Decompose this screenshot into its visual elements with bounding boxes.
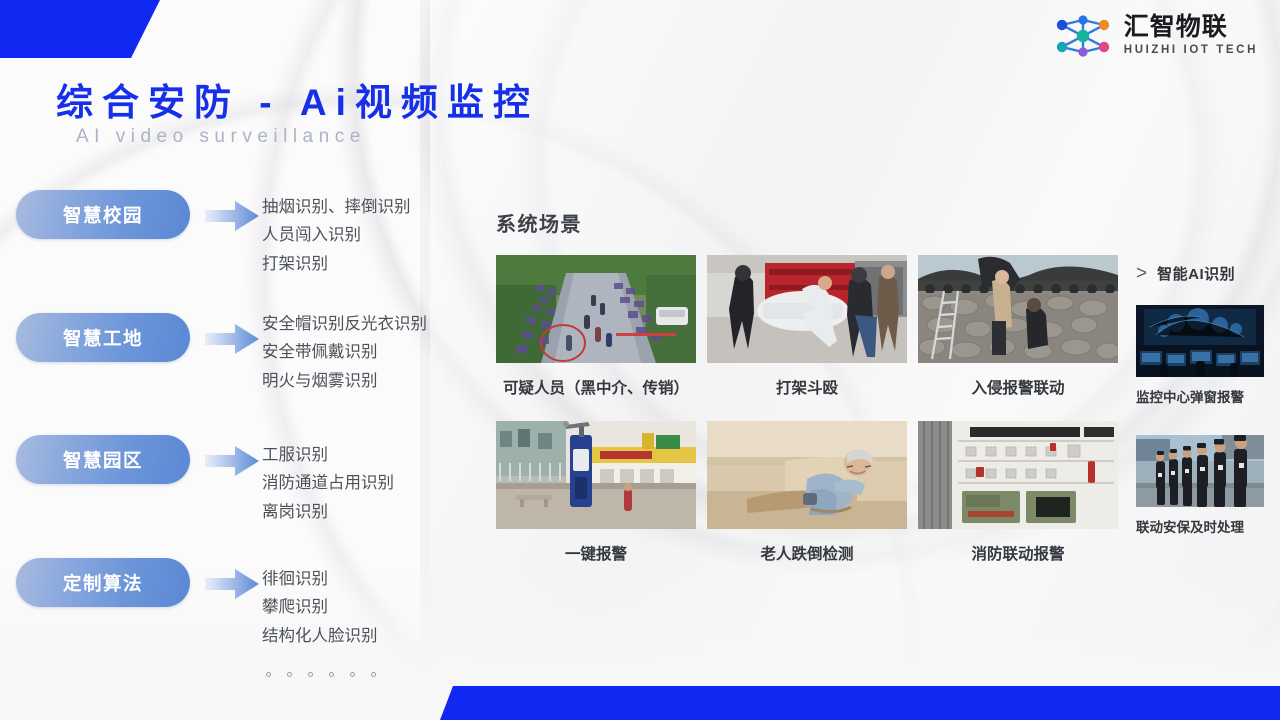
- chevron-right-icon: >: [1136, 264, 1147, 283]
- scene-image-3: [496, 421, 696, 529]
- scene-image-0: [496, 255, 696, 363]
- page-subtitle: AI video surveillance: [76, 126, 366, 148]
- category-pill-label-0: 智慧校园: [63, 202, 143, 228]
- scene-image-5: [918, 421, 1118, 529]
- category-item-2-0: 工服识别: [262, 441, 394, 469]
- category-items-1: 安全帽识别反光衣识别 安全带佩戴识别 明火与烟雾识别: [262, 310, 427, 395]
- dot-5: [371, 672, 376, 677]
- logo-company-name-en: HUIZHI IOT TECH: [1124, 45, 1258, 57]
- side-caption-0: 监控中心弹窗报警: [1136, 386, 1264, 406]
- scene-caption-1: 打架斗殴: [707, 376, 907, 398]
- category-block-2: 智慧园区: [16, 435, 190, 484]
- category-pill-label-2: 智慧园区: [63, 447, 143, 473]
- category-item-1-0: 安全帽识别反光衣识别: [262, 310, 427, 338]
- side-thumb-1[interactable]: 联动安保及时处理: [1136, 435, 1264, 507]
- category-item-0-1: 人员闯入识别: [262, 221, 411, 249]
- arrow-icon-3: [205, 567, 260, 601]
- category-item-0-2: 打架识别: [262, 250, 411, 278]
- logo-company-name-cn: 汇智物联: [1124, 15, 1258, 40]
- category-items-2: 工服识别 消防通道占用识别 离岗识别: [262, 441, 394, 526]
- category-item-3-0: 徘徊识别: [262, 565, 378, 593]
- scene-thumb-4[interactable]: 老人跌倒检测: [707, 421, 907, 529]
- scene-caption-2: 入侵报警联动: [918, 376, 1118, 398]
- arrow-icon-1: [205, 322, 260, 356]
- category-item-2-1: 消防通道占用识别: [262, 469, 394, 497]
- category-block-1: 智慧工地: [16, 313, 190, 362]
- ai-recognition-text: 智能AI识别: [1157, 263, 1235, 284]
- scene-thumb-1[interactable]: 打架斗殴: [707, 255, 907, 363]
- category-item-3-1: 攀爬识别: [262, 593, 378, 621]
- category-item-0-0: 抽烟识别、摔倒识别: [262, 193, 411, 221]
- dot-1: [287, 672, 292, 677]
- dot-0: [266, 672, 271, 677]
- category-pill-1[interactable]: 智慧工地: [16, 313, 190, 362]
- scene-thumb-0[interactable]: 可疑人员（黑中介、传销）: [496, 255, 696, 363]
- category-block-3: 定制算法: [16, 558, 190, 607]
- category-pill-0[interactable]: 智慧校园: [16, 190, 190, 239]
- scene-image-2: [918, 255, 1118, 363]
- category-pill-label-3: 定制算法: [63, 570, 143, 596]
- category-item-3-2: 结构化人脸识别: [262, 622, 378, 650]
- side-image-0: [1136, 305, 1264, 377]
- ellipsis-dots: [262, 672, 376, 677]
- scene-thumb-5[interactable]: 消防联动报警: [918, 421, 1118, 529]
- category-item-1-2: 明火与烟雾识别: [262, 367, 427, 395]
- arrow-icon-0: [205, 199, 260, 233]
- side-caption-1: 联动安保及时处理: [1136, 516, 1264, 536]
- category-items-3: 徘徊识别 攀爬识别 结构化人脸识别: [262, 565, 378, 650]
- dot-2: [308, 672, 313, 677]
- dot-3: [329, 672, 334, 677]
- company-logo: 汇智物联 HUIZHI IOT TECH: [1052, 14, 1258, 58]
- scenes-section-title: 系统场景: [496, 208, 582, 237]
- side-thumb-0[interactable]: 监控中心弹窗报警: [1136, 305, 1264, 377]
- category-item-1-1: 安全带佩戴识别: [262, 338, 427, 366]
- scene-caption-5: 消防联动报警: [918, 542, 1118, 564]
- dot-4: [350, 672, 355, 677]
- page-title: 综合安防 - Ai视频监控: [56, 72, 539, 126]
- scene-caption-0: 可疑人员（黑中介、传销）: [496, 376, 696, 398]
- scene-thumb-3[interactable]: 一键报警: [496, 421, 696, 529]
- arrow-icon-2: [205, 444, 260, 478]
- scene-caption-4: 老人跌倒检测: [707, 542, 907, 564]
- bottom-right-blue-bar: [440, 686, 1280, 720]
- category-pill-label-1: 智慧工地: [63, 325, 143, 351]
- scene-caption-3: 一键报警: [496, 542, 696, 564]
- category-item-2-2: 离岗识别: [262, 498, 394, 526]
- ai-recognition-label: > 智能AI识别: [1136, 263, 1235, 284]
- category-block-0: 智慧校园: [16, 190, 190, 239]
- side-image-1: [1136, 435, 1264, 507]
- category-items-0: 抽烟识别、摔倒识别 人员闯入识别 打架识别: [262, 193, 411, 278]
- scene-image-1: [707, 255, 907, 363]
- category-pill-2[interactable]: 智慧园区: [16, 435, 190, 484]
- category-pill-3[interactable]: 定制算法: [16, 558, 190, 607]
- scene-thumb-2[interactable]: 入侵报警联动: [918, 255, 1118, 363]
- molecule-network-icon: [1052, 14, 1114, 58]
- scene-image-4: [707, 421, 907, 529]
